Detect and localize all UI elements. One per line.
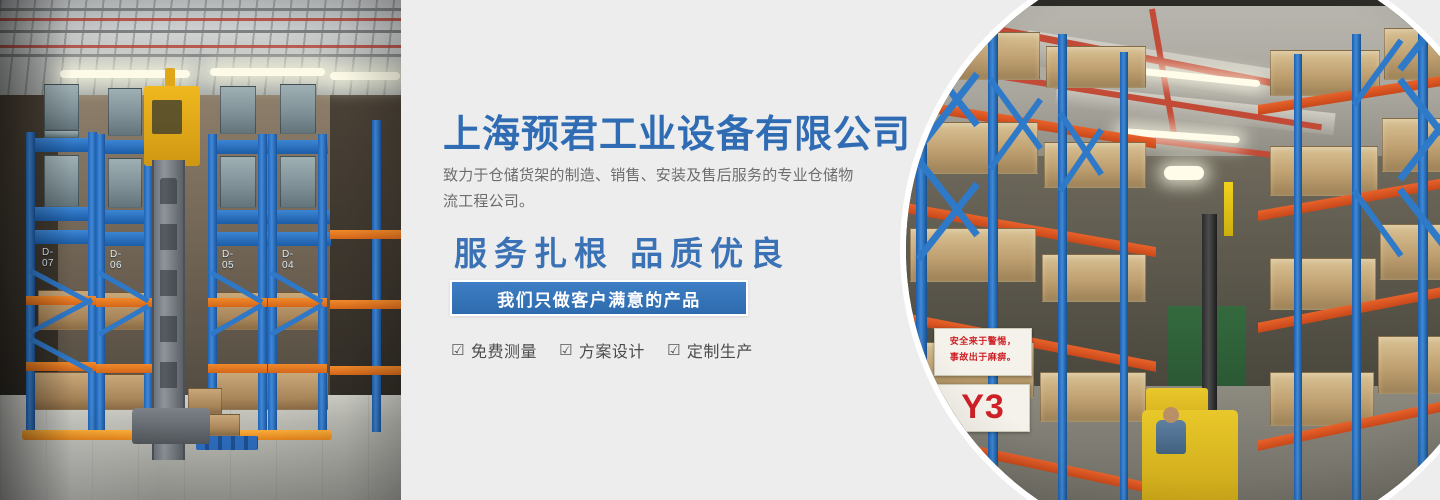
feature-item-custom-production: ☑ 定制生产: [667, 338, 753, 362]
feature-item-free-measurement: ☑ 免费测量: [451, 338, 537, 362]
feature-item-scheme-design: ☑ 方案设计: [559, 338, 645, 362]
check-box-icon: ☑: [667, 343, 681, 358]
subtitle-text: 致力于仓储货架的制造、销售、安装及售后服务的专业仓储物流工程公司。: [443, 163, 861, 215]
banner-content: 上海预君工业设备有限公司 致力于仓储货架的制造、销售、安装及售后服务的专业仓储物…: [443, 0, 913, 500]
feature-label: 方案设计: [579, 338, 645, 362]
feature-label: 定制生产: [687, 338, 753, 362]
photo-vignette: [0, 0, 401, 500]
check-box-icon: ☑: [451, 343, 465, 358]
warehouse-photo-right: 安全来于警惕， 事故出于麻痹。 Y3 Y3: [900, 0, 1440, 500]
left-photo-scene: D-07 D-06: [0, 0, 401, 500]
hero-banner: D-07 D-06: [0, 0, 1440, 500]
warehouse-photo-left: D-07 D-06: [0, 0, 401, 500]
cta-button[interactable]: 我们只做客户满意的产品: [450, 280, 748, 316]
check-box-icon: ☑: [559, 343, 573, 358]
page-title: 上海预君工业设备有限公司: [443, 103, 911, 158]
slogan-text: 服务扎根 品质优良: [454, 227, 790, 275]
feature-label: 免费测量: [471, 338, 537, 362]
photo-vignette: [906, 6, 1440, 500]
feature-list: ☑ 免费测量 ☑ 方案设计 ☑ 定制生产: [451, 338, 753, 362]
right-photo-scene: 安全来于警惕， 事故出于麻痹。 Y3 Y3: [906, 6, 1440, 500]
